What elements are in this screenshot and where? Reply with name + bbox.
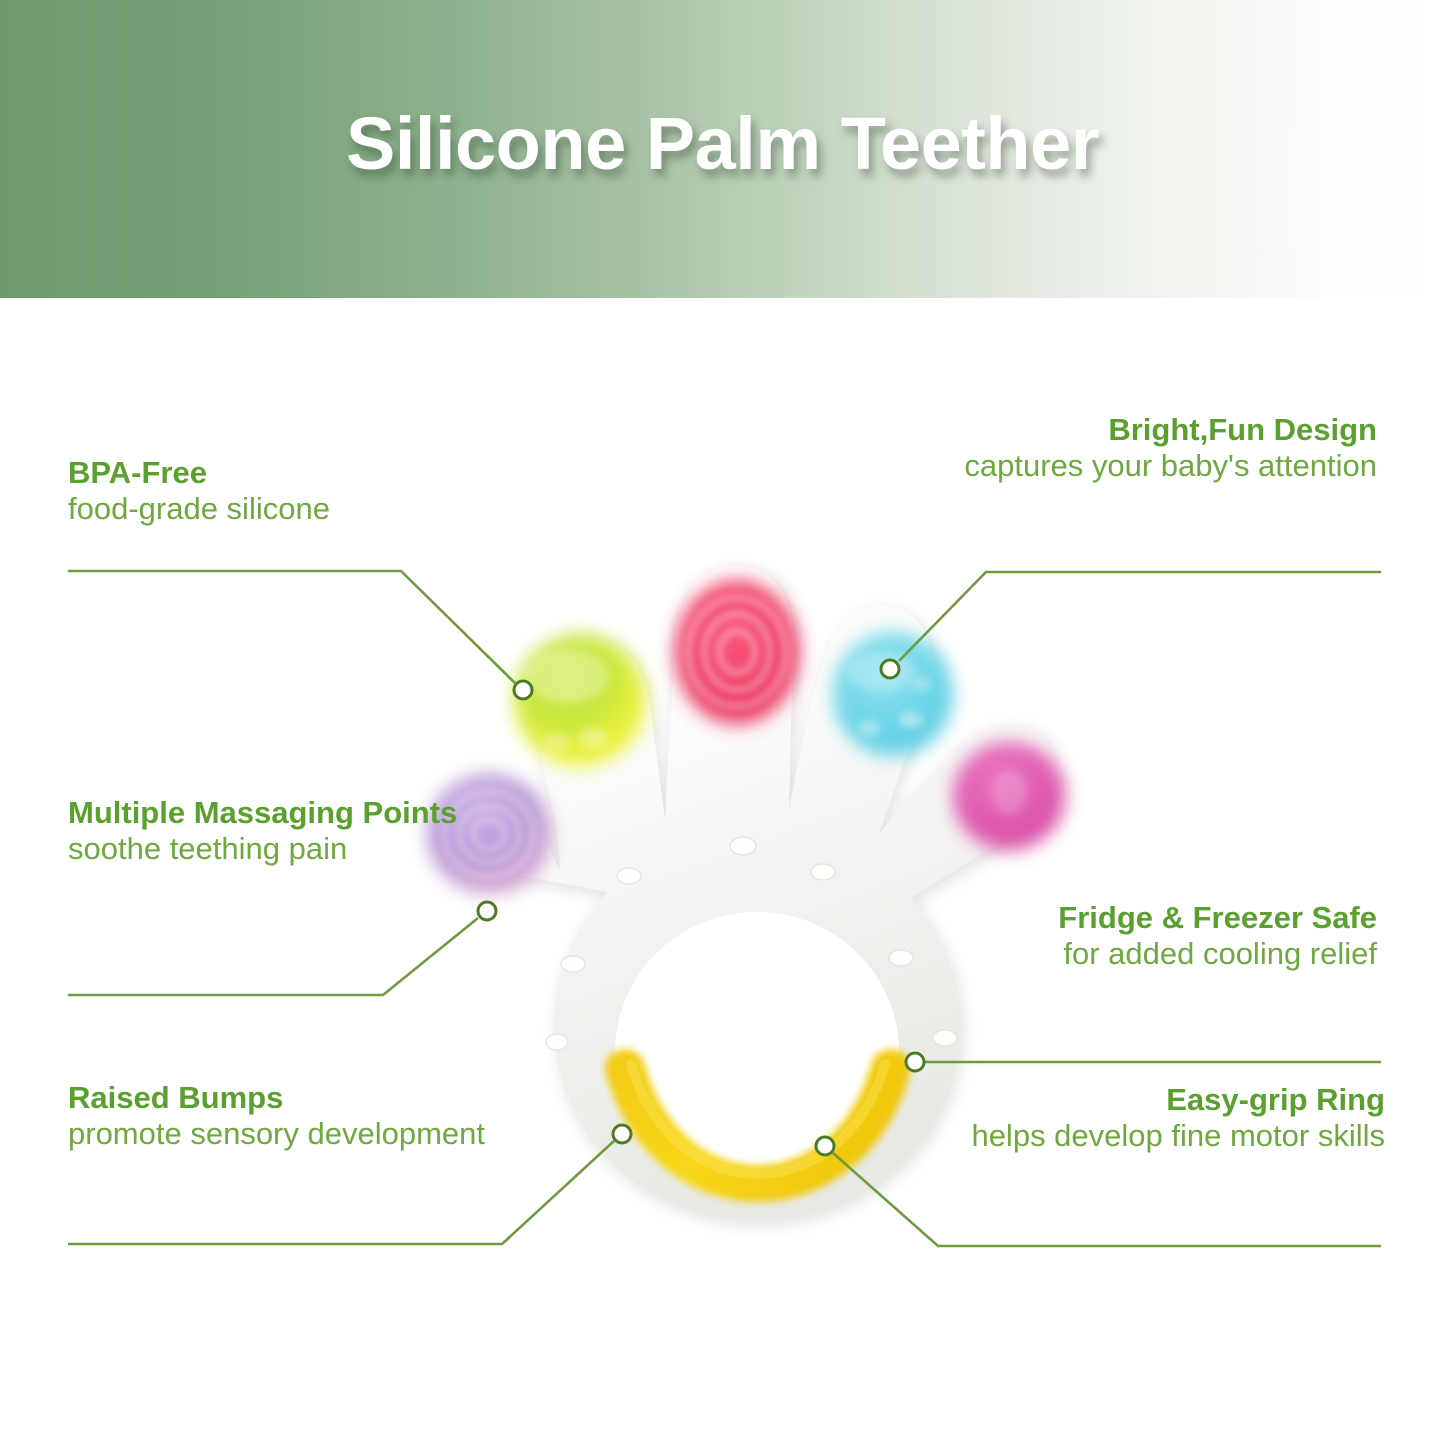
callout-desc: soothe teething pain (68, 831, 468, 867)
callout-desc: for added cooling relief (947, 936, 1377, 972)
right-thumb-tip (953, 742, 1065, 850)
callout-bpa-free: BPA-Free food-grade silicone (68, 455, 488, 528)
callout-title: Bright,Fun Design (947, 412, 1377, 448)
callout-title: BPA-Free (68, 455, 488, 491)
callout-desc: captures your baby's attention (947, 448, 1377, 484)
page-title: Silicone Palm Teether (0, 0, 1445, 298)
ring-finger-tip (833, 632, 953, 756)
callout-title: Multiple Massaging Points (68, 795, 468, 831)
callout-raised-bumps: Raised Bumps promote sensory development (68, 1080, 488, 1153)
callout-easy-grip-ring: Easy-grip Ring helps develop fine motor … (965, 1082, 1385, 1155)
index-finger-tip (514, 634, 646, 766)
callout-multiple-massaging-points: Multiple Massaging Points soothe teethin… (68, 795, 468, 868)
callout-bright-fun-design: Bright,Fun Design captures your baby's a… (947, 412, 1377, 485)
middle-finger-tip (675, 580, 799, 724)
callout-desc: promote sensory development (68, 1116, 488, 1152)
callout-desc: helps develop fine motor skills (965, 1118, 1385, 1154)
callout-title: Easy-grip Ring (965, 1082, 1385, 1118)
callout-fridge-freezer-safe: Fridge & Freezer Safe for added cooling … (947, 900, 1377, 973)
callout-desc: food-grade silicone (68, 491, 488, 527)
callout-title: Raised Bumps (68, 1080, 488, 1116)
callout-title: Fridge & Freezer Safe (947, 900, 1377, 936)
infographic-page: Silicone Palm Teether (0, 0, 1445, 1445)
